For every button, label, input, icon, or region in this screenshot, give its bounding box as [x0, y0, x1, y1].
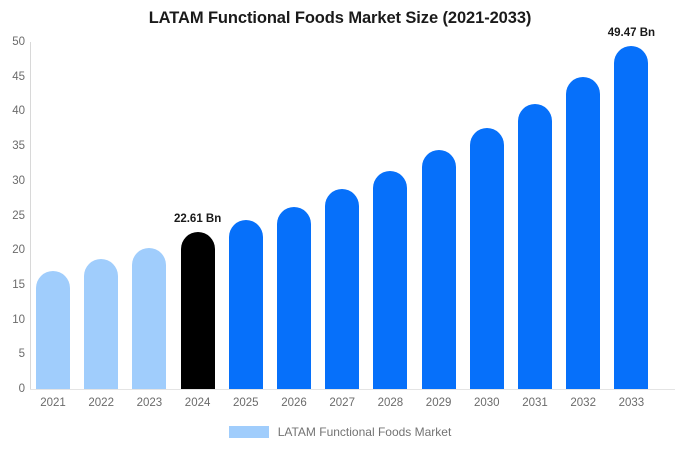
chart-title: LATAM Functional Foods Market Size (2021… [0, 9, 680, 28]
y-axis-tick-label: 25 [0, 210, 25, 222]
x-axis-tick-label-2025: 2025 [222, 397, 270, 409]
bar-group [470, 42, 504, 389]
bar-2033[interactable] [614, 46, 648, 389]
bar-2030[interactable] [470, 128, 504, 389]
y-axis-tick-label: 30 [0, 175, 25, 187]
x-axis-line [30, 389, 675, 390]
x-axis-tick-label-2026: 2026 [270, 397, 318, 409]
bar-group [518, 42, 552, 389]
bar-group [325, 42, 359, 389]
bar-group [373, 42, 407, 389]
y-axis-tick-label: 45 [0, 71, 25, 83]
legend-swatch-latam-functional-foods-market [229, 426, 269, 438]
x-axis-tick-label-2022: 2022 [77, 397, 125, 409]
x-axis-tick-label-2032: 2032 [559, 397, 607, 409]
bar-2023[interactable] [132, 248, 166, 389]
bar-group [422, 42, 456, 389]
bar-2029[interactable] [422, 150, 456, 389]
bar-2027[interactable] [325, 189, 359, 389]
bar-2022[interactable] [84, 259, 118, 389]
x-axis-tick-label-2021: 2021 [29, 397, 77, 409]
bar-value-label-2033: 49.47 Bn [608, 27, 655, 39]
bar-2026[interactable] [277, 207, 311, 389]
bar-2031[interactable] [518, 104, 552, 389]
x-axis-tick-label-2028: 2028 [366, 397, 414, 409]
bar-2025[interactable] [229, 220, 263, 389]
x-axis-tick-label-2030: 2030 [463, 397, 511, 409]
bar-chart: LATAM Functional Foods Market Size (2021… [0, 0, 680, 450]
y-axis-tick-label: 20 [0, 244, 25, 256]
bar-2024[interactable] [181, 232, 215, 389]
bar-group: 22.61 Bn [181, 42, 215, 389]
bar-value-label-2024: 22.61 Bn [174, 213, 221, 225]
bar-2032[interactable] [566, 77, 600, 389]
y-axis-tick-label: 10 [0, 314, 25, 326]
chart-legend: LATAM Functional Foods Market [0, 425, 680, 439]
bar-2028[interactable] [373, 171, 407, 389]
x-axis-tick-label-2033: 2033 [607, 397, 655, 409]
x-axis-tick-label-2024: 2024 [174, 397, 222, 409]
bar-group [277, 42, 311, 389]
bar-group [229, 42, 263, 389]
y-axis-tick-label: 5 [0, 348, 25, 360]
bar-group [566, 42, 600, 389]
y-axis-tick-label: 15 [0, 279, 25, 291]
y-axis-tick-label: 50 [0, 36, 25, 48]
bar-2021[interactable] [36, 271, 70, 389]
bar-group: 49.47 Bn [614, 42, 648, 389]
bar-group [36, 42, 70, 389]
y-axis-tick-label: 35 [0, 140, 25, 152]
x-axis-tick-label-2029: 2029 [415, 397, 463, 409]
x-axis-tick-label-2023: 2023 [125, 397, 173, 409]
y-axis-tick-label: 0 [0, 383, 25, 395]
y-axis-tick-label: 40 [0, 105, 25, 117]
bar-group [132, 42, 166, 389]
legend-label-latam-functional-foods-market: LATAM Functional Foods Market [278, 425, 452, 439]
x-axis-tick-label-2031: 2031 [511, 397, 559, 409]
x-axis-tick-label-2027: 2027 [318, 397, 366, 409]
bar-group [84, 42, 118, 389]
y-axis-ticks: 05101520253035404550 [0, 0, 25, 450]
